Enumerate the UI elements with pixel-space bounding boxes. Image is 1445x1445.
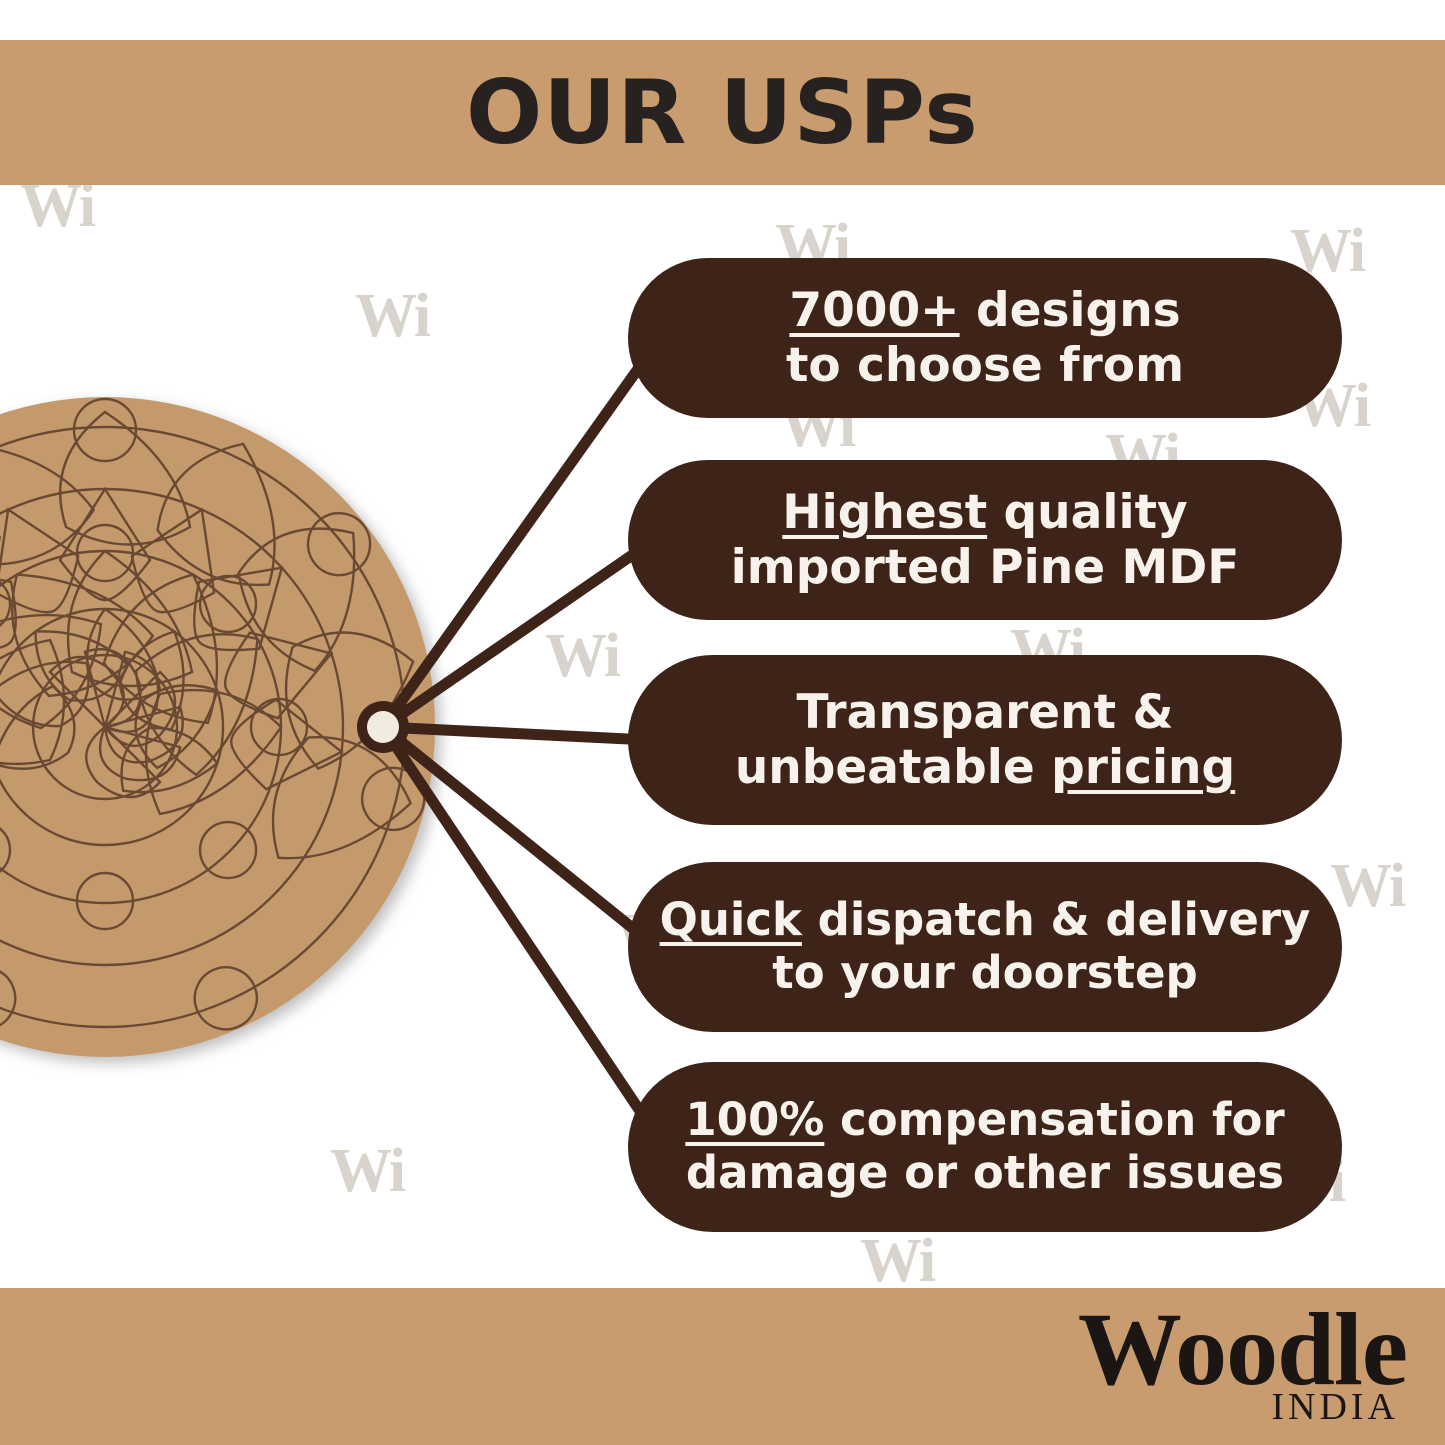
- usp-text: unbeatable: [735, 740, 1051, 795]
- connector-hub: [357, 701, 409, 753]
- usp-line-2: to your doorstep: [772, 947, 1198, 1000]
- usp-line-1: Highest quality: [782, 485, 1187, 540]
- usp-highlight: 7000+: [789, 283, 959, 338]
- usp-pill-dispatch[interactable]: Quick dispatch & delivery to your doorst…: [628, 862, 1342, 1032]
- footer-band: Woodle INDIA: [0, 1288, 1445, 1445]
- usp-highlight: 100%: [685, 1093, 824, 1146]
- header-band: OUR USPs: [0, 40, 1445, 185]
- usp-pill-pricing[interactable]: Transparent & unbeatable pricing: [628, 655, 1342, 825]
- usp-line-2: to choose from: [786, 338, 1184, 393]
- usp-text: designs: [960, 283, 1181, 338]
- usp-text: to choose from: [786, 338, 1184, 393]
- usp-pill-compensation[interactable]: 100% compensation for damage or other is…: [628, 1062, 1342, 1232]
- connector-line-2: [383, 540, 654, 727]
- connector-line-1: [383, 338, 660, 727]
- usp-highlight: Quick: [660, 893, 802, 946]
- mdf-mandala-plate: [0, 397, 435, 1057]
- watermark-wi-logo: Wi: [80, 960, 154, 1022]
- usp-pill-designs[interactable]: 7000+ designs to choose from: [628, 258, 1342, 418]
- brand-logo: Woodle INDIA: [1078, 1298, 1407, 1426]
- watermark-wi-logo: Wi: [330, 1140, 404, 1202]
- usp-highlight: Highest: [782, 485, 987, 540]
- page-title: OUR USPs: [466, 69, 979, 157]
- watermark-wi-logo: Wi: [545, 625, 619, 687]
- connector-line-3: [383, 727, 648, 740]
- usp-line-1: 7000+ designs: [789, 283, 1180, 338]
- usp-text: Transparent &: [797, 685, 1174, 740]
- usp-text: compensation for: [824, 1093, 1284, 1146]
- usp-text: to your doorstep: [772, 946, 1198, 999]
- usp-line-1: Transparent &: [797, 685, 1174, 740]
- connector-lines: [383, 338, 664, 1147]
- usp-text: damage or other issues: [686, 1146, 1284, 1199]
- usp-line-2: imported Pine MDF: [731, 540, 1240, 595]
- usp-line-2: unbeatable pricing: [735, 740, 1235, 795]
- watermark-wi-logo: Wi: [355, 285, 429, 347]
- usp-text: imported Pine MDF: [731, 540, 1240, 595]
- watermark-wi-logo: Wi: [1330, 855, 1404, 917]
- usp-infographic-page: WiWiWiWiWiWiWiWiWiWiWiWiWiWiWi: [0, 0, 1445, 1445]
- usp-line-1: 100% compensation for: [685, 1094, 1284, 1147]
- usp-text: dispatch & delivery: [802, 893, 1310, 946]
- connector-line-4: [383, 727, 656, 947]
- usp-pill-quality[interactable]: Highest quality imported Pine MDF: [628, 460, 1342, 620]
- usp-line-2: damage or other issues: [686, 1147, 1284, 1200]
- usp-text: quality: [987, 485, 1188, 540]
- watermark-wi-logo: Wi: [860, 1230, 934, 1292]
- connector-line-5: [383, 727, 664, 1147]
- usp-line-1: Quick dispatch & delivery: [660, 894, 1311, 947]
- usp-highlight: pricing: [1051, 740, 1235, 795]
